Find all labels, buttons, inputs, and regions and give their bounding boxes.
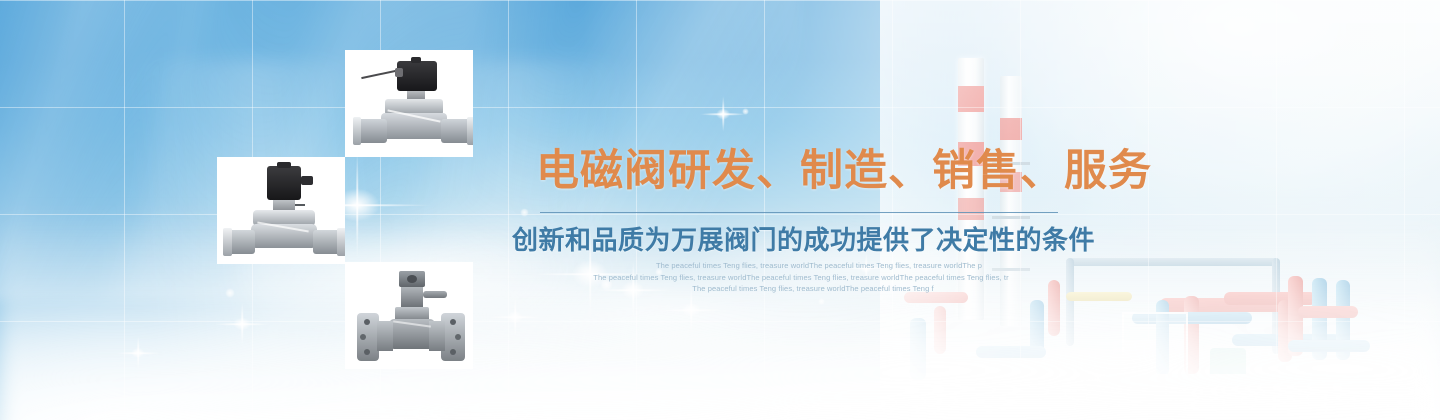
fine-print-line: The peaceful times Teng flies, treasure … — [524, 283, 1102, 295]
fine-print-line: The peaceful times Teng flies, treasure … — [512, 272, 1090, 284]
bokeh-circle — [520, 208, 529, 217]
hero-banner: 电磁阀研发、制造、销售、服务 创新和品质为万展阀门的成功提供了决定性的条件 Th… — [0, 0, 1440, 420]
page-title: 电磁阀研发、制造、销售、服务 — [536, 148, 1096, 194]
bokeh-circle — [818, 298, 825, 305]
product-thumbnail[interactable] — [217, 157, 345, 264]
bokeh-circle — [742, 108, 749, 115]
page-subtitle: 创新和品质为万展阀门的成功提供了决定性的条件 — [512, 220, 1095, 257]
bokeh-circle — [225, 288, 235, 298]
product-thumbnail[interactable] — [345, 262, 473, 369]
title-divider — [540, 212, 1058, 213]
fine-print-line: The peaceful times Teng flies, treasure … — [530, 260, 1108, 272]
solenoid-valve-threaded-black-coil-image — [351, 57, 467, 150]
solenoid-valve-stainless-threaded-image — [223, 164, 339, 257]
solenoid-valve-flanged-image — [351, 269, 467, 362]
fine-print-block: The peaceful times Teng flies, treasure … — [514, 260, 1092, 295]
grid-overlay — [0, 0, 1440, 420]
product-thumbnail[interactable] — [345, 50, 473, 157]
hero-text-block: 电磁阀研发、制造、销售、服务 创新和品质为万展阀门的成功提供了决定性的条件 Th… — [536, 148, 1096, 194]
